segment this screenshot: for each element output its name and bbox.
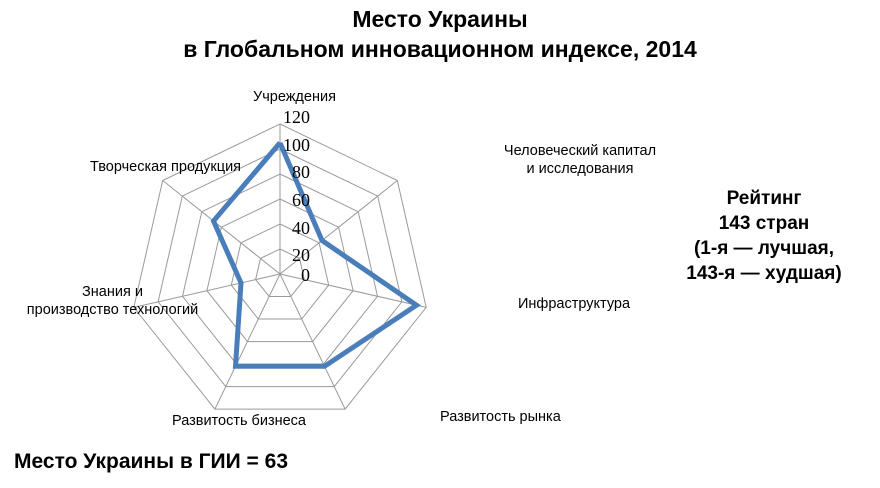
tick-label-100: 100 <box>250 136 310 154</box>
axis-label-human-capital: Человеческий капитали исследования <box>480 142 680 178</box>
radar-chart: 120 100 80 60 40 20 0 Учреждения Человеч… <box>0 70 660 440</box>
axis-label-knowledge-technology: Знания ипроизводство технологий <box>5 283 220 319</box>
title-line-2: в Глобальном инновационном индексе, 2014 <box>0 34 880 64</box>
rating-note-line-3: (1-я — лучшая, <box>648 236 880 261</box>
title-line-1: Место Украины <box>0 4 880 34</box>
rating-note: Рейтинг 143 стран (1-я — лучшая, 143-я —… <box>648 186 880 286</box>
axis-label-market-sophistication: Развитость рынка <box>440 408 561 426</box>
rating-note-line-1: Рейтинг <box>648 186 880 211</box>
radar-chart-svg <box>0 70 660 440</box>
tick-label-80: 80 <box>250 163 310 181</box>
tick-label-120: 120 <box>250 108 310 126</box>
tick-label-40: 40 <box>250 219 310 237</box>
axis-label-institutions: Учреждения <box>253 88 336 106</box>
axis-label-knowledge-technology-text: Знания ипроизводство технологий <box>27 284 198 318</box>
axis-label-business-sophistication: Развитость бизнеса <box>172 412 306 430</box>
tick-label-0: 0 <box>250 266 310 284</box>
page-title: Место Украины в Глобальном инновационном… <box>0 4 880 64</box>
axis-label-creative-outputs: Творческая продукция <box>90 158 241 176</box>
tick-label-60: 60 <box>250 191 310 209</box>
axis-label-human-capital-line1: Человеческий капитали исследования <box>504 143 656 177</box>
rating-note-line-4: 143-я — худшая) <box>648 261 880 286</box>
footer-caption: Место Украины в ГИИ = 63 <box>14 450 288 474</box>
rating-note-line-2: 143 стран <box>648 211 880 236</box>
axis-label-infrastructure: Инфраструктура <box>518 295 630 313</box>
slide-canvas: Место Украины в Глобальном инновационном… <box>0 0 880 488</box>
tick-label-20: 20 <box>250 246 310 264</box>
radar-series-ukraine <box>214 143 417 366</box>
